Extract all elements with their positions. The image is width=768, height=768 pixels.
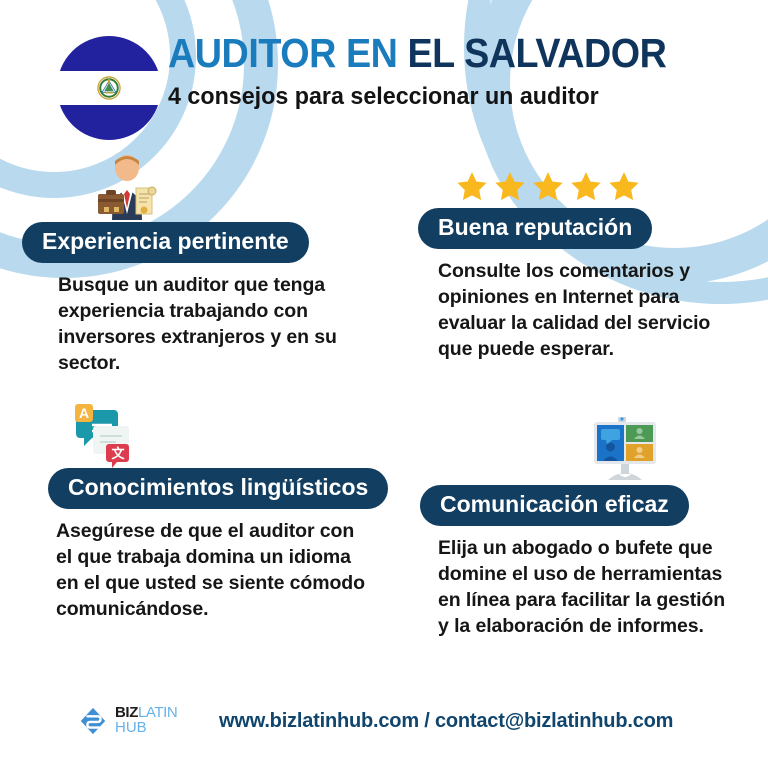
tip-body-text: Elija un abogado o bufete que domine el … (438, 535, 733, 640)
tip-card-conocimientos-linguisticos: A 文 Conocimientos lingüísticos Asegúrese… (48, 398, 408, 623)
star-icon (456, 170, 488, 202)
tip-badge-label: Conocimientos lingüísticos (48, 468, 388, 509)
bizlatinhub-logo-mark-icon (78, 706, 108, 736)
bizlatinhub-logo[interactable]: BIZLATIN HUB (78, 706, 177, 736)
video-conference-monitor-icon (588, 415, 666, 485)
tip-badge-label: Buena reputación (418, 208, 652, 249)
page-title: AUDITOR EN EL SALVADOR (168, 32, 683, 75)
flag-band-top (57, 36, 161, 71)
page-subtitle: 4 consejos para seleccionar un auditor (168, 83, 700, 111)
translation-speech-bubbles-icon: A 文 (62, 398, 140, 468)
tip-badge-label: Experiencia pertinente (22, 222, 309, 263)
tip-body-text: Asegúrese de que el auditor con el que t… (56, 518, 366, 623)
tip-badge-label: Comunicación eficaz (420, 485, 689, 526)
poster-footer: BIZLATIN HUB www.bizlatinhub.com / conta… (0, 702, 768, 750)
star-icon (532, 170, 564, 202)
footer-contact-url[interactable]: www.bizlatinhub.com / contact@bizlatinhu… (219, 710, 673, 733)
svg-text:文: 文 (111, 446, 125, 461)
tip-body-text: Busque un auditor que tenga experiencia … (58, 272, 358, 377)
coat-of-arms-icon (96, 75, 122, 101)
bizlatinhub-logo-text: BIZLATIN HUB (115, 706, 177, 735)
svg-text:A: A (79, 405, 89, 421)
poster-header: AUDITOR EN EL SALVADOR 4 consejos para s… (0, 18, 768, 130)
el-salvador-flag-icon (57, 36, 161, 140)
five-stars-rating-icon (456, 170, 646, 208)
title-part-el-salvador: EL SALVADOR (407, 30, 666, 76)
star-icon (608, 170, 640, 202)
flag-band-bottom (57, 105, 161, 140)
star-icon (570, 170, 602, 202)
tip-card-experiencia-pertinente: Experiencia pertinente Busque un auditor… (22, 152, 362, 377)
businessman-briefcase-certificate-icon (88, 152, 166, 222)
logo-text-hub: HUB (115, 721, 177, 736)
title-block: AUDITOR EN EL SALVADOR 4 consejos para s… (168, 32, 728, 111)
tip-card-comunicacion-eficaz: Comunicación eficaz Elija un abogado o b… (420, 415, 750, 640)
tip-card-buena-reputacion: Buena reputación Consulte los comentario… (418, 170, 748, 363)
star-icon (494, 170, 526, 202)
title-part-auditor-en: AUDITOR EN (168, 30, 397, 76)
infographic-poster: AUDITOR EN EL SALVADOR 4 consejos para s… (0, 0, 768, 768)
tip-body-text: Consulte los comentarios y opiniones en … (438, 258, 728, 363)
